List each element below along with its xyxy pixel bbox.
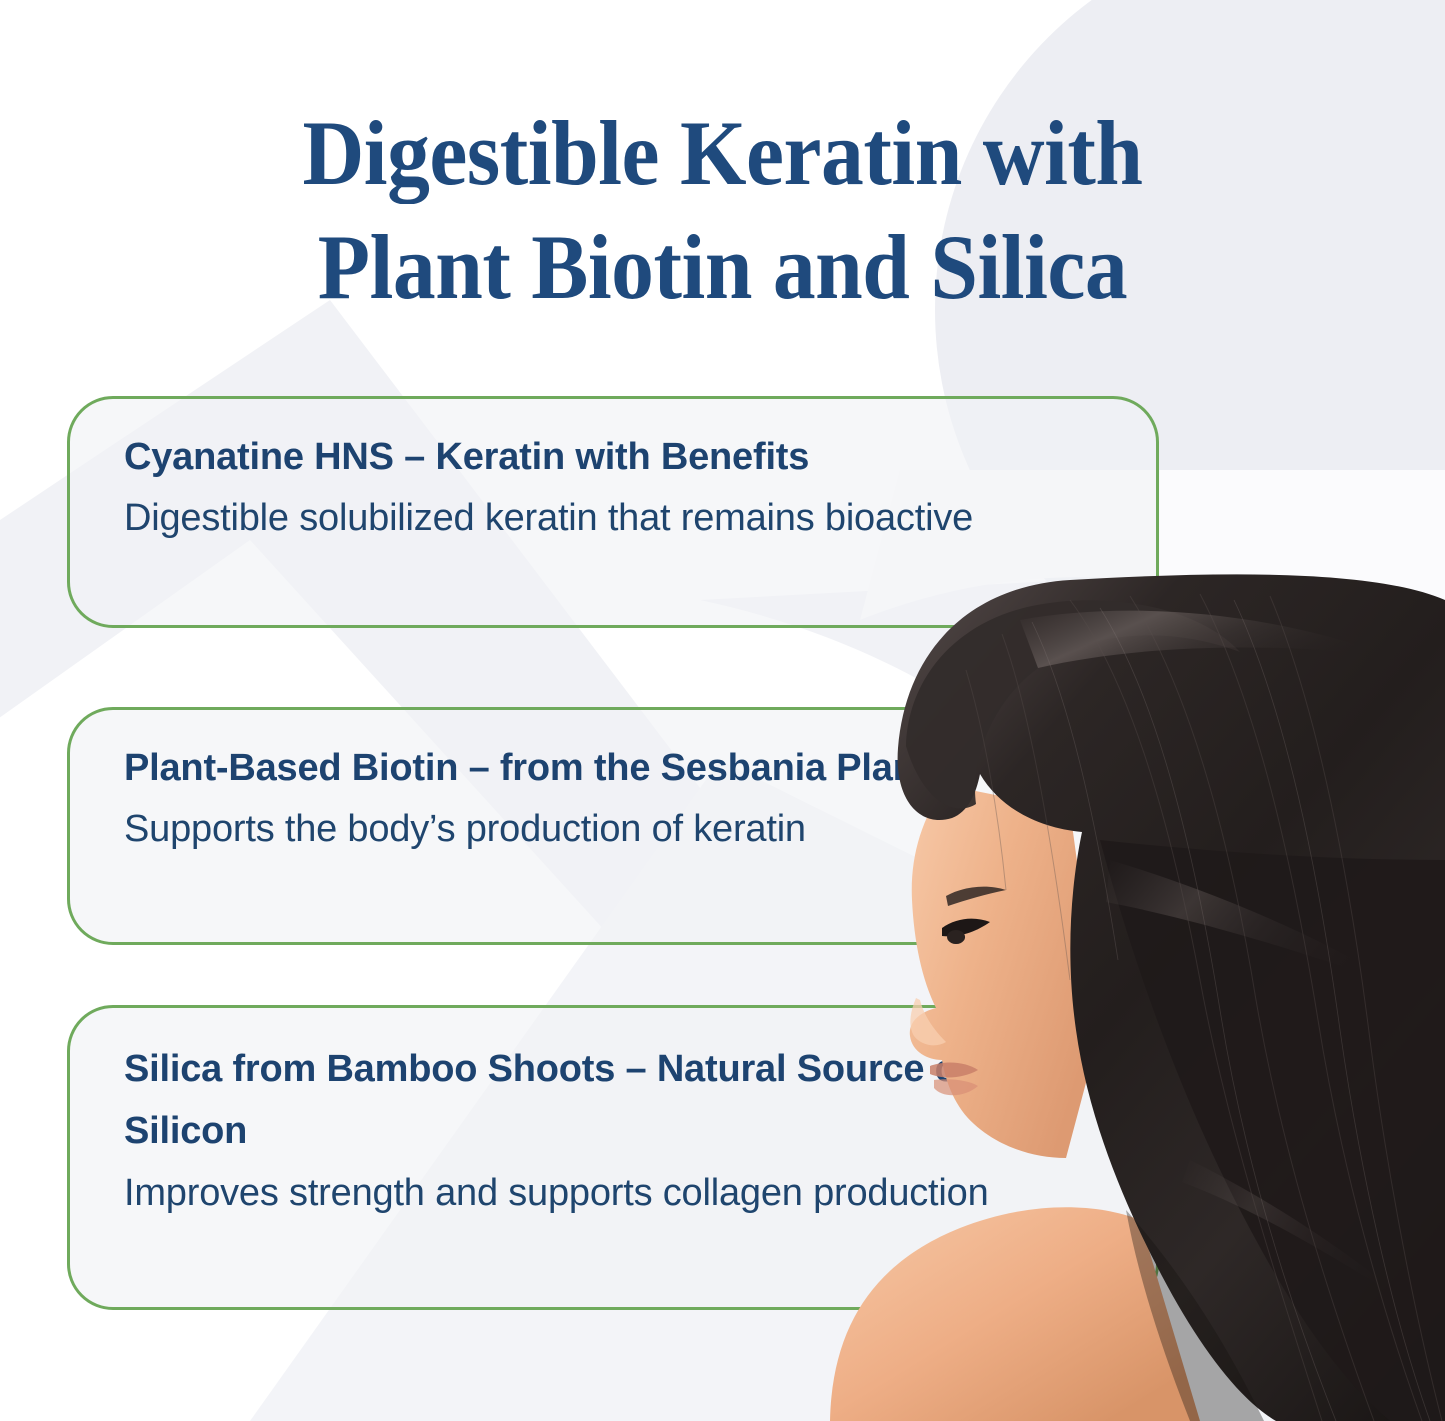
benefit-card-body: Digestible solubilized keratin that rema… xyxy=(124,497,973,539)
page-title: Digestible Keratin with Plant Biotin and… xyxy=(0,96,1445,324)
benefit-card-body: Improves strength and supports collagen … xyxy=(124,1172,989,1214)
hair-shine-lower xyxy=(1182,1160,1426,1316)
page-title-line-1: Digestible Keratin with xyxy=(51,96,1395,210)
infographic-page: Digestible Keratin with Plant Biotin and… xyxy=(0,0,1445,1421)
benefit-card-heading: Plant-Based Biotin – from the Sesbania P… xyxy=(124,747,928,789)
benefit-card-silica: Silica from Bamboo Shoots – Natural Sour… xyxy=(67,1005,1159,1310)
benefit-card-heading: Silica from Bamboo Shoots – Natural Sour… xyxy=(124,1048,970,1152)
page-title-line-2: Plant Biotin and Silica xyxy=(51,210,1395,324)
benefit-card-text: Silica from Bamboo Shoots – Natural Sour… xyxy=(124,1038,1084,1224)
benefit-card-text: Plant-Based Biotin – from the Sesbania P… xyxy=(124,738,1084,860)
benefit-card-heading: Cyanatine HNS – Keratin with Benefits xyxy=(124,436,809,478)
benefit-card-cyanatine: Cyanatine HNS – Keratin with Benefits Di… xyxy=(67,396,1159,628)
benefit-card-text: Cyanatine HNS – Keratin with Benefits Di… xyxy=(124,427,1084,549)
benefit-card-biotin: Plant-Based Biotin – from the Sesbania P… xyxy=(67,707,1159,945)
